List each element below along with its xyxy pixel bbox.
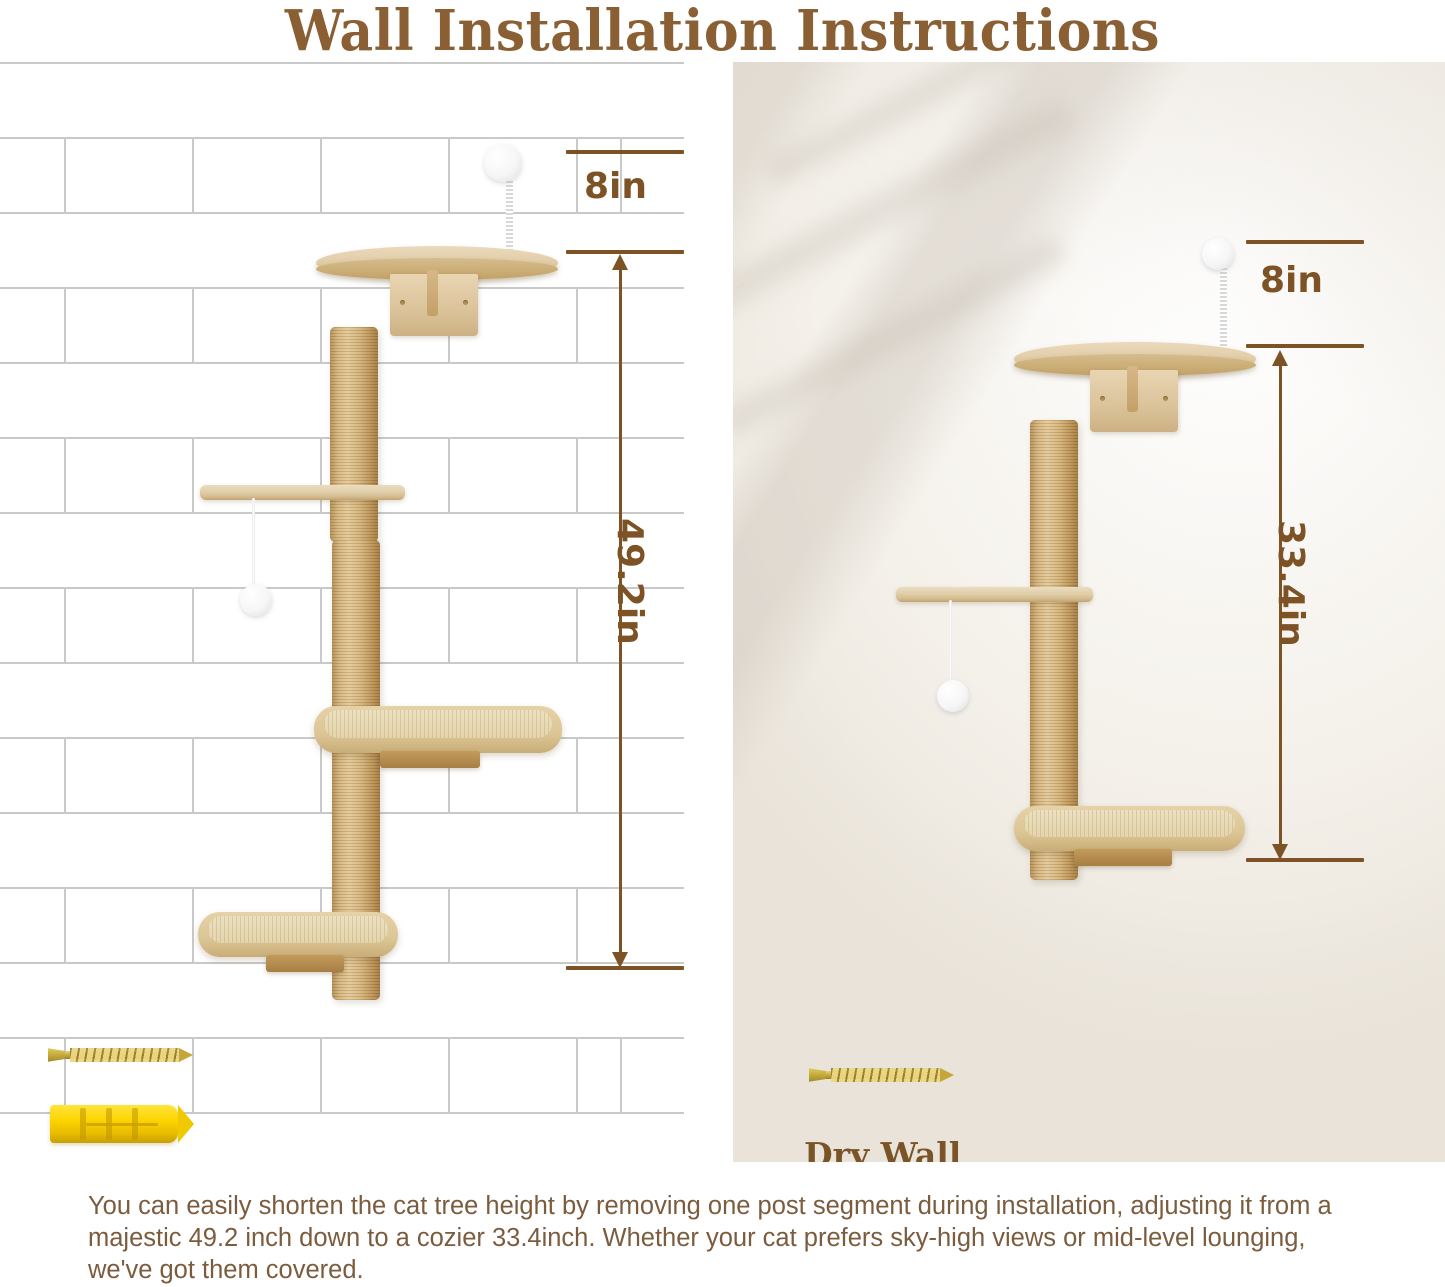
platform-support: [1074, 849, 1172, 866]
pompom-ball-shelf: [240, 584, 272, 616]
dim-ref-line-bottom: [566, 966, 684, 970]
wall-anchor-plug: [50, 1105, 178, 1143]
pompom-ball-shelf: [937, 680, 969, 712]
toy-string: [252, 498, 255, 592]
bracket-screw-hole: [463, 300, 468, 305]
dry-wall-panel: 8in 33.4in Dry Wall: [733, 62, 1445, 1162]
dim-label-8in: 8in: [584, 166, 647, 207]
dim-ref-line-top: [1246, 240, 1364, 244]
screw-head: [48, 1047, 66, 1063]
sisal-post-upper: [330, 327, 378, 542]
cushion-pad: [1024, 810, 1235, 837]
dim-ref-line-bottom: [1246, 858, 1364, 862]
pompom-ball-top: [1202, 238, 1234, 270]
bracket-hanger-tab: [1127, 366, 1138, 412]
screw-threads: [70, 1048, 180, 1062]
mid-shelf: [896, 587, 1093, 602]
wood-screw-dry: [809, 1067, 957, 1083]
anchor-tip: [178, 1105, 194, 1143]
bracket-screw-hole: [400, 300, 405, 305]
page-header: Wall Installation Instructions: [0, 0, 1445, 62]
screw-threads: [831, 1068, 941, 1082]
pompom-ball-top: [484, 144, 522, 182]
platform-support-upper: [380, 751, 480, 768]
bracket-screw-hole: [1100, 396, 1105, 401]
toy-string: [949, 600, 952, 688]
bracket-hanger-tab: [427, 270, 438, 316]
screw-tip: [940, 1068, 954, 1082]
screw-head: [809, 1067, 827, 1083]
wall-type-label-dry: Dry Wall: [804, 1135, 961, 1162]
cushion-pad-lower: [208, 916, 388, 943]
platform-support-lower: [266, 955, 344, 972]
dim-label-8in: 8in: [1260, 260, 1323, 301]
dim-label-49-2in: 49.2in: [609, 518, 650, 645]
page-title: Wall Installation Instructions: [285, 0, 1160, 64]
dim-ref-line-top: [566, 150, 684, 154]
spring-toy: [1220, 258, 1227, 350]
anchor-slot: [86, 1123, 158, 1126]
dim-ref-line-mid: [1246, 344, 1364, 348]
cushion-pad-upper: [324, 710, 552, 738]
bracket-screw-hole: [1163, 396, 1168, 401]
mid-shelf: [200, 485, 405, 500]
wood-screw-solid: [48, 1047, 196, 1063]
dim-label-33-4in: 33.4in: [1270, 520, 1311, 647]
solid-wall-panel: 8in 49.2in Solid Wall: [0, 62, 684, 1162]
screw-tip: [179, 1048, 193, 1062]
instruction-caption: You can easily shorten the cat tree heig…: [88, 1190, 1360, 1286]
